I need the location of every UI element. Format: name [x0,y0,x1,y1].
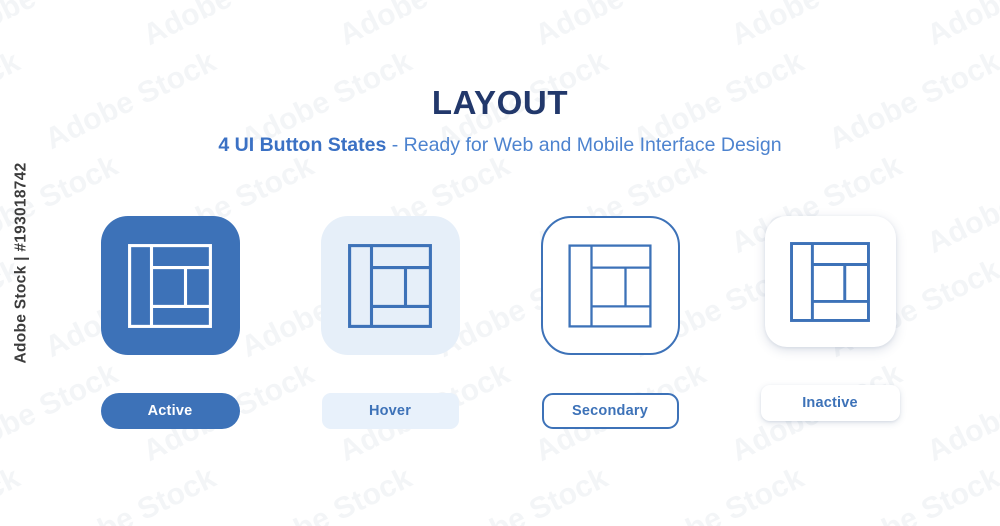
page-title: LAYOUT [0,84,1000,122]
state-button-label: Inactive [802,395,858,411]
stock-watermark: Adobe Stock [530,0,712,53]
state-button-secondary[interactable]: Secondary [542,393,679,429]
stock-watermark: Adobe Stock [40,461,222,526]
state-button-label: Active [148,403,193,419]
stock-credit-text: Adobe Stock | #193018742 [13,162,31,363]
page-subtitle-bold: 4 UI Button States [218,134,386,156]
layout-icon [348,244,432,328]
icon-card-secondary[interactable] [541,216,680,355]
layout-icon [790,242,870,322]
stock-watermark: Adobe Stock [726,0,908,53]
stock-watermark: Adobe Stock [138,0,320,53]
page-subtitle-rest: - Ready for Web and Mobile Interface Des… [386,134,781,156]
state-button-hover[interactable]: Hover [322,393,459,429]
state-column-active: Active [90,216,250,429]
state-button-label: Secondary [572,403,648,419]
state-column-inactive: Inactive [750,216,910,421]
stock-watermark: Adobe Stock [628,461,810,526]
stock-watermark: Adobe Stock [236,461,418,526]
layout-icon [128,244,212,328]
icon-card-inactive[interactable] [765,216,896,347]
layout-icon [568,244,652,328]
state-button-label: Hover [369,403,411,419]
stock-watermark: Adobe Stock [334,0,516,53]
button-states-row: Active Hover [0,216,1000,446]
page-subtitle: 4 UI Button States - Ready for Web and M… [0,134,1000,157]
state-column-hover: Hover [310,216,470,429]
stock-watermark: Adobe Stock [922,0,1000,53]
icon-card-hover[interactable] [321,216,460,355]
stock-watermark: Adobe Stock [432,461,614,526]
icon-card-active[interactable] [101,216,240,355]
stock-watermark: Adobe Stock [824,461,1000,526]
state-button-active[interactable]: Active [101,393,240,429]
stock-credit-vertical: Adobe Stock | #193018742 [5,0,39,526]
state-button-inactive[interactable]: Inactive [761,385,900,421]
state-column-secondary: Secondary [530,216,690,429]
